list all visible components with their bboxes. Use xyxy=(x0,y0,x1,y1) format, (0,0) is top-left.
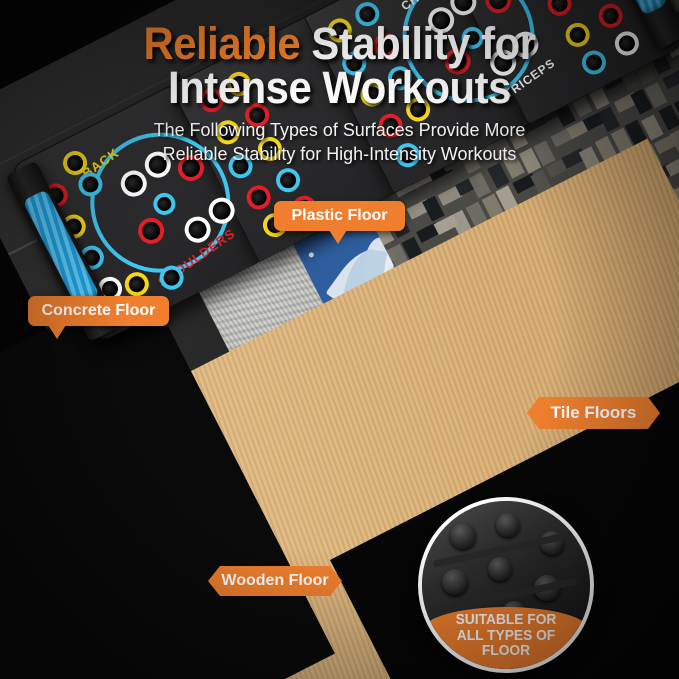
callout-wooden-floor[interactable]: Wooden Floor xyxy=(208,566,342,596)
headline-line-2: Intense Workouts xyxy=(24,66,655,110)
subtitle-line-2: Reliable Stability for High-Intensity Wo… xyxy=(10,142,669,166)
headline: Reliable Stability for Intense Workouts xyxy=(0,22,679,110)
headline-line-1: Reliable Stability for xyxy=(24,22,655,66)
callout-concrete-floor-label: Concrete Floor xyxy=(42,302,156,320)
subtitle: The Following Types of Surfaces Provide … xyxy=(0,118,679,165)
callout-tail xyxy=(329,230,347,244)
callout-concrete-floor[interactable]: Concrete Floor xyxy=(28,296,169,326)
underside-detail-inset: SUITABLE FOR ALL TYPES OF FLOOR xyxy=(418,497,594,673)
anti-slip-nub xyxy=(488,557,512,581)
anti-slip-nub xyxy=(442,569,468,595)
inset-banner-line-2: ALL TYPES OF xyxy=(426,629,586,645)
anti-slip-nub xyxy=(496,513,520,537)
callout-plastic-floor-label: Plastic Floor xyxy=(291,207,387,225)
callout-plastic-floor[interactable]: Plastic Floor xyxy=(274,201,405,231)
callout-tile-floors-label: Tile Floors xyxy=(551,403,637,423)
subtitle-line-1: The Following Types of Surfaces Provide … xyxy=(10,118,669,142)
inset-banner-line-1: SUITABLE FOR xyxy=(426,613,586,629)
callout-tail xyxy=(48,325,66,339)
callout-tile-floors[interactable]: Tile Floors xyxy=(527,397,660,429)
promo-image: BACKSHOULDERSCHESTTRICEPS Reliable Stabi… xyxy=(0,0,679,679)
inset-banner-line-3: FLOOR xyxy=(426,644,586,660)
anti-slip-nub xyxy=(450,523,476,549)
callout-wooden-floor-label: Wooden Floor xyxy=(221,572,328,590)
inset-banner: SUITABLE FOR ALL TYPES OF FLOOR xyxy=(422,607,590,669)
